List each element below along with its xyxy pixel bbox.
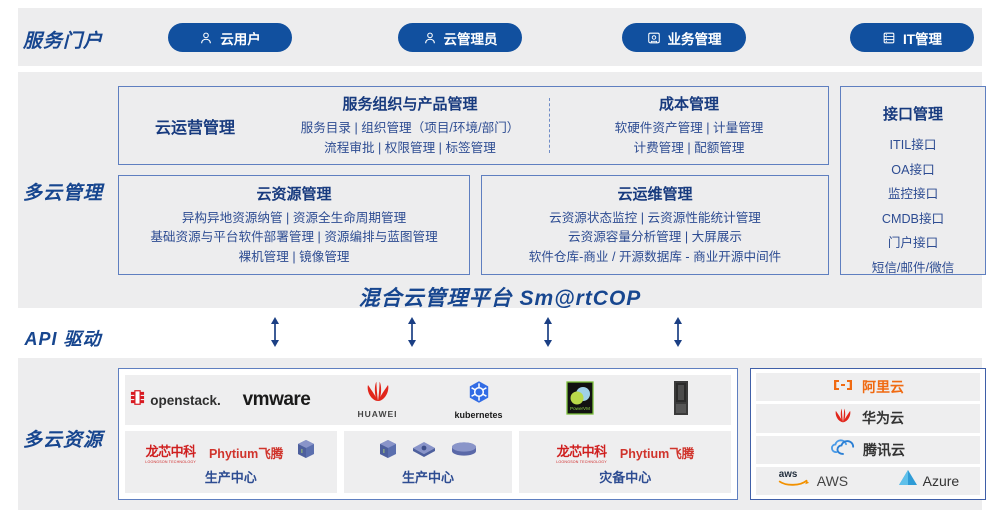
openstack-label: openstack. (150, 393, 221, 408)
phytium-label: Phytium飞腾 (209, 443, 283, 462)
datacenter-label: 灾备中心 (599, 467, 651, 486)
kubernetes-label: kubernetes (454, 410, 502, 420)
interface-management-box: 接口管理 ITIL接口 OA接口 监控接口 CMDB接口 门户接口 短信/邮件/… (840, 86, 986, 275)
loongson-logo: 龙芯中科 LOONGSON TECHNOLOGY (145, 441, 196, 464)
box-title: 云资源管理 (256, 183, 331, 204)
box-line: 基础资源与平台软件部署管理 | 资源编排与蓝图管理 (150, 228, 437, 248)
bidirectional-vertical-arrow (671, 315, 685, 354)
rail-label-api-driven: API 驱动 (0, 325, 126, 351)
portal-pill-label: 云管理员 (444, 28, 498, 48)
portal-pill-label: 云用户 (220, 28, 261, 48)
aws-label: AWS (817, 473, 848, 489)
network-switch-icon (411, 440, 437, 465)
rail-label-multicloud-resource: 多云资源 (0, 425, 126, 452)
loongson-sublabel: LOONGSON TECHNOLOGY (556, 460, 607, 464)
portal-pill-business-management[interactable]: 业务管理 (622, 23, 746, 52)
platform-title: 混合云管理平台 Sm@rtCOP (0, 282, 1000, 312)
datacenter-disaster-recovery: 龙芯中科 LOONGSON TECHNOLOGY Phytium飞腾 灾备中心 (519, 431, 731, 493)
portal-pill-label: 业务管理 (668, 28, 722, 48)
public-cloud-aws-azure-row: aws AWS Azure (756, 467, 980, 495)
cloud-resource-management-box: 云资源管理 异构异地资源纳管 | 资源全生命周期管理 基础资源与平台软件部署管理… (118, 175, 470, 275)
datacenter-label: 生产中心 (402, 467, 454, 486)
datacenter-label: 生产中心 (205, 467, 257, 486)
group-line: 计费管理 | 配额管理 (556, 139, 822, 159)
interface-item: 短信/邮件/微信 (872, 256, 955, 281)
openstack-icon (130, 390, 145, 410)
logo-huawei: HUAWEI (327, 381, 428, 419)
box-line: 云资源状态监控 | 云资源性能统计管理 (549, 209, 761, 229)
public-cloud-huawei: 华为云 (756, 404, 980, 432)
alibaba-cloud-icon (832, 377, 854, 398)
huawei-cloud-icon (832, 408, 854, 429)
server-cube-icon (296, 439, 316, 466)
cloud-operations-title: 云运营管理 (119, 114, 271, 138)
huawei-flower-icon (363, 381, 393, 408)
kubernetes-helm-icon (467, 380, 491, 409)
interface-item: 监控接口 (888, 182, 938, 207)
huawei-label: HUAWEI (358, 409, 398, 419)
interface-item: CMDB接口 (882, 207, 944, 232)
public-cloud-tencent: 腾讯云 (756, 436, 980, 464)
svg-text:PowerVM: PowerVM (570, 406, 590, 411)
vmware-label: vmware (243, 389, 311, 410)
portal-pill-it-management[interactable]: IT管理 (850, 23, 974, 52)
rail-label-multicloud-management: 多云管理 (0, 178, 126, 205)
powervm-icon: PowerVM (566, 381, 594, 420)
public-cloud-label: 华为云 (862, 408, 904, 428)
portal-pill-label: IT管理 (903, 28, 942, 48)
public-cloud-alibaba: 阿里云 (756, 373, 980, 401)
virtualization-logo-strip: openstack. vmware HUAWEI (125, 375, 731, 425)
group-title: 成本管理 (556, 93, 822, 114)
group-title: 服务组织与产品管理 (277, 93, 543, 114)
interface-item: OA接口 (891, 158, 934, 183)
public-cloud-label: 腾讯云 (863, 440, 905, 460)
loongson-label: 龙芯中科 (557, 441, 607, 460)
datacenter-row: 龙芯中科 LOONGSON TECHNOLOGY Phytium飞腾 生产中心 (125, 431, 731, 493)
bidirectional-vertical-arrow (268, 315, 282, 354)
business-window-icon (647, 31, 661, 45)
loongson-label: 龙芯中科 (146, 441, 196, 460)
azure-label: Azure (923, 473, 960, 489)
box-line: 裸机管理 | 镜像管理 (238, 248, 349, 268)
interface-item: 门户接口 (888, 231, 938, 256)
interface-management-title: 接口管理 (883, 103, 943, 124)
public-cloud-label: 阿里云 (862, 377, 904, 397)
logo-powervm: PowerVM (529, 381, 630, 420)
loongson-logo: 龙芯中科 LOONGSON TECHNOLOGY (556, 441, 607, 464)
server-cube-icon (378, 439, 398, 466)
architecture-diagram: 服务门户 多云管理 API 驱动 多云资源 云用户 云管理员 业务管理 IT管理… (0, 0, 1000, 518)
portal-pill-cloud-admin[interactable]: 云管理员 (398, 23, 522, 52)
interface-item: ITIL接口 (890, 133, 937, 158)
box-line: 云资源容量分析管理 | 大屏展示 (568, 228, 742, 248)
service-product-group: 服务组织与产品管理 服务目录 | 组织管理（项目/环境/部门） 流程审批 | 权… (271, 93, 549, 158)
server-list-icon (882, 31, 896, 45)
datacenter-production-1: 龙芯中科 LOONGSON TECHNOLOGY Phytium飞腾 生产中心 (125, 431, 337, 493)
datacenter-production-2: 生产中心 (344, 431, 513, 493)
public-cloud-box: 阿里云 华为云 腾讯云 (750, 368, 986, 500)
cost-management-group: 成本管理 软硬件资产管理 | 计量管理 计费管理 | 配额管理 (550, 93, 828, 158)
bidirectional-vertical-arrow (405, 315, 419, 354)
user-admin-icon (423, 31, 437, 45)
cloud-maintenance-management-box: 云运维管理 云资源状态监控 | 云资源性能统计管理 云资源容量分析管理 | 大屏… (481, 175, 829, 275)
user-icon (199, 31, 213, 45)
server-rack-icon (673, 380, 689, 421)
svg-text:aws: aws (779, 469, 798, 480)
logo-kubernetes: kubernetes (428, 380, 529, 420)
storage-disk-icon (450, 441, 478, 464)
logo-vmware: vmware (226, 389, 327, 411)
logo-openstack: openstack. (125, 390, 226, 410)
group-line: 服务目录 | 组织管理（项目/环境/部门） (277, 119, 543, 139)
box-title: 云运维管理 (617, 183, 692, 204)
azure-icon (898, 469, 918, 492)
public-cloud-azure: Azure (898, 469, 960, 492)
group-line: 软硬件资产管理 | 计量管理 (556, 119, 822, 139)
loongson-sublabel: LOONGSON TECHNOLOGY (145, 460, 196, 464)
portal-pill-cloud-user[interactable]: 云用户 (168, 23, 292, 52)
phytium-label: Phytium飞腾 (620, 443, 694, 462)
rail-label-portal: 服务门户 (0, 26, 126, 53)
group-line: 流程审批 | 权限管理 | 标签管理 (277, 139, 543, 159)
box-line: 软件仓库-商业 / 开源数据库 - 商业开源中间件 (529, 248, 782, 268)
public-cloud-aws: aws AWS (777, 467, 848, 494)
cloud-operations-box: 云运营管理 服务组织与产品管理 服务目录 | 组织管理（项目/环境/部门） 流程… (118, 86, 829, 165)
private-resource-box: openstack. vmware HUAWEI (118, 368, 738, 500)
bidirectional-vertical-arrow (541, 315, 555, 354)
box-line: 异构异地资源纳管 | 资源全生命周期管理 (182, 209, 406, 229)
logo-server-rack (630, 380, 731, 421)
aws-icon: aws (777, 467, 811, 494)
tencent-cloud-icon (831, 439, 855, 461)
